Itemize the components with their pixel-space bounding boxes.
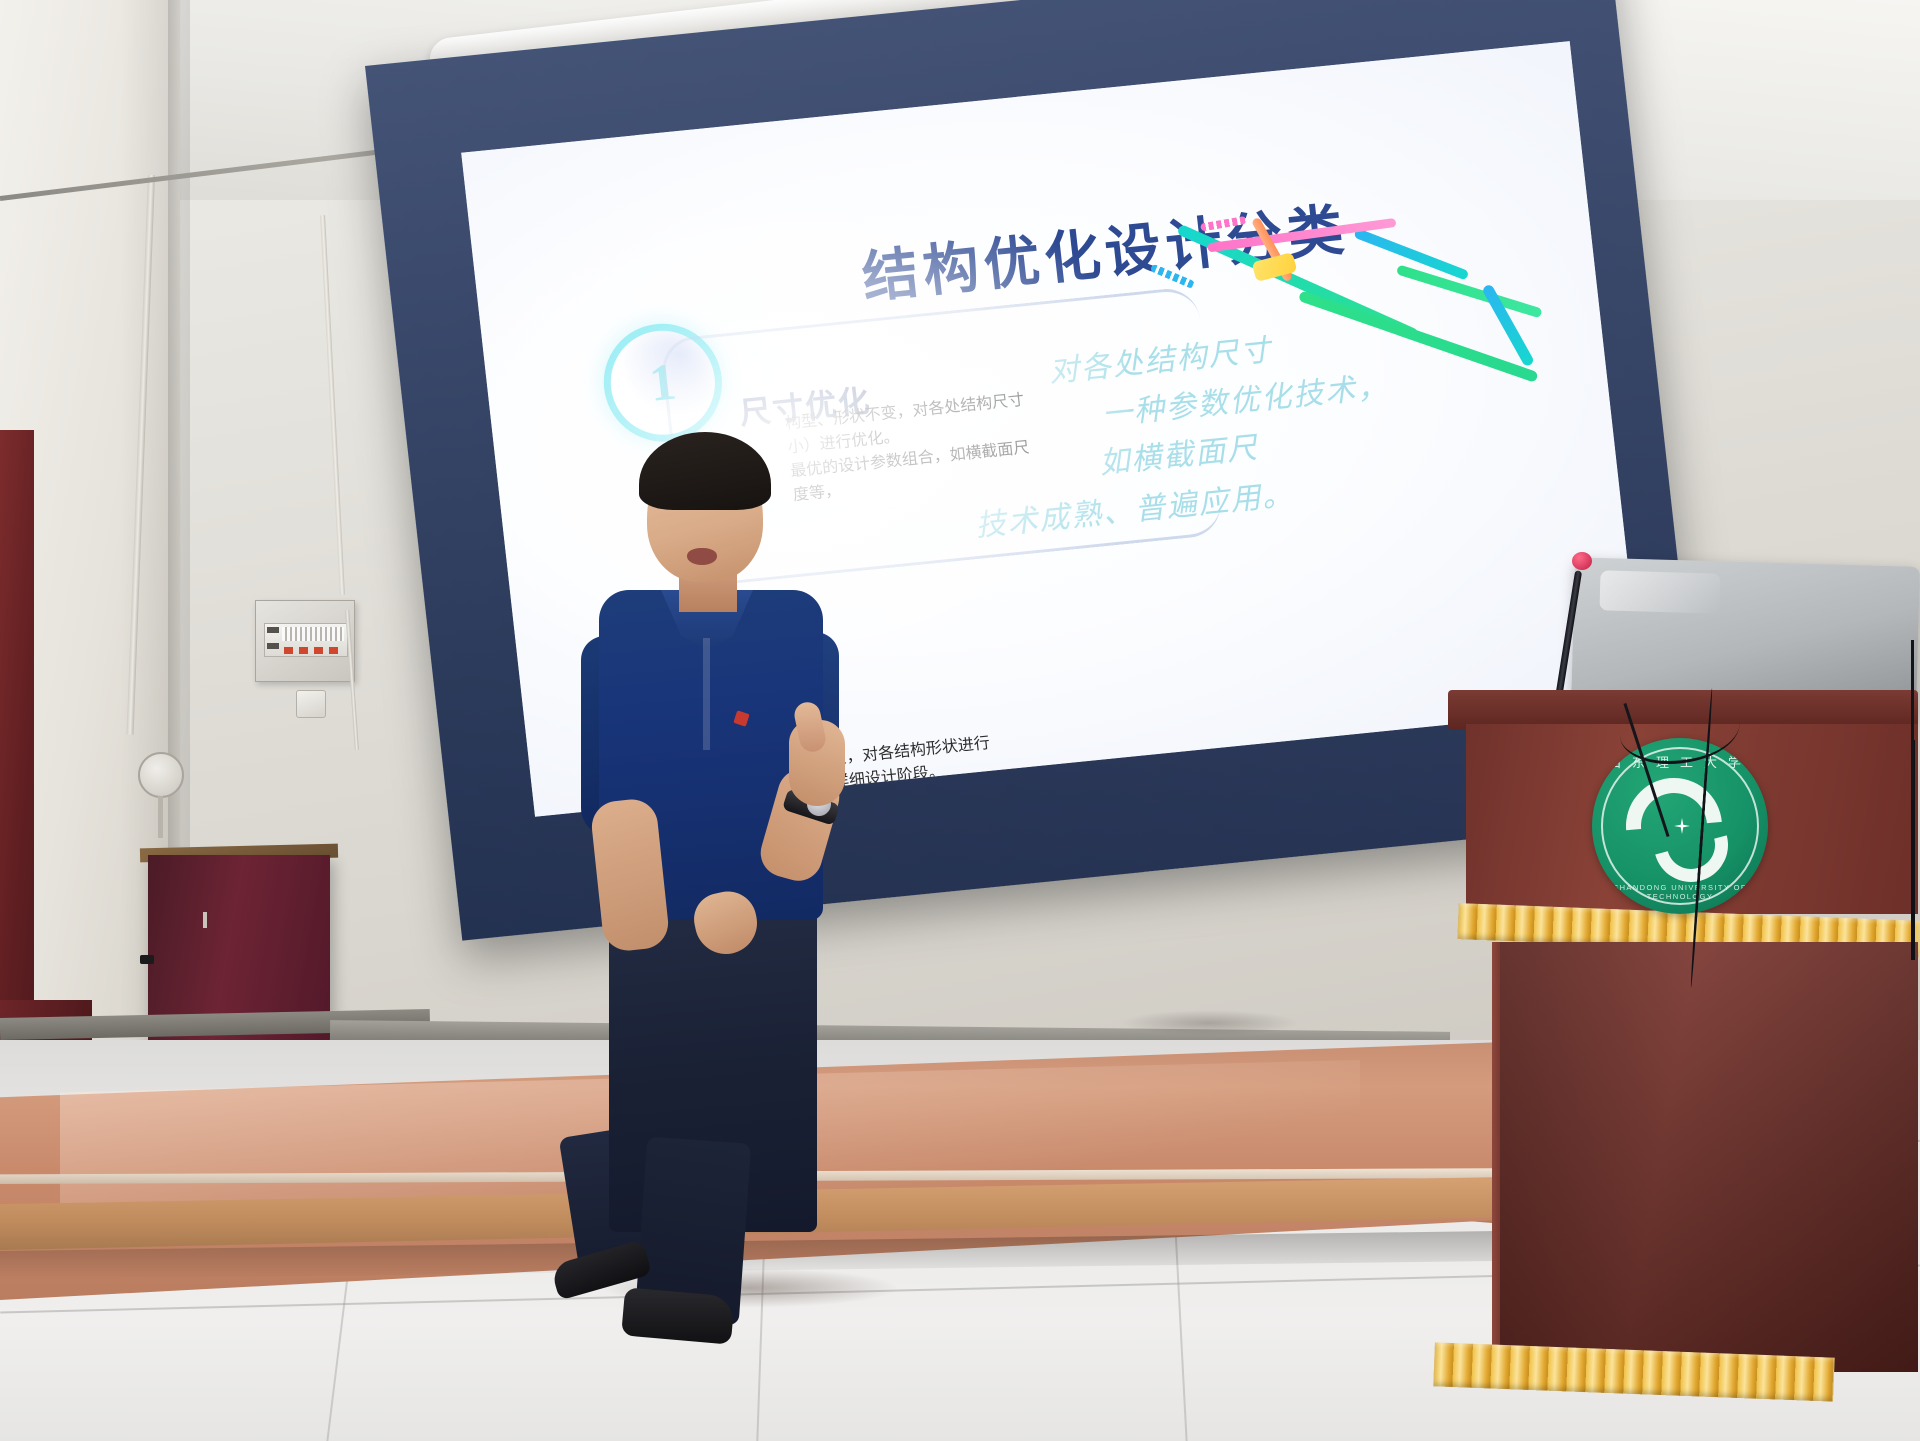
panel-warning-labels	[284, 647, 340, 654]
cabinet-lock-icon	[140, 955, 154, 964]
electrical-distribution-panel[interactable]	[255, 600, 355, 682]
circuit-breakers[interactable]	[282, 627, 344, 641]
panel-switch[interactable]	[267, 627, 279, 633]
presenter	[575, 440, 875, 1250]
presenter-shirt-placket	[703, 638, 710, 750]
university-crest-logo: 山东理工大学 SHANDONG UNIVERSITY OF TECHNOLOGY	[1592, 738, 1768, 914]
laptop-screen-glare	[1599, 570, 1720, 613]
presenter-mouth	[687, 548, 717, 565]
crest-english-name: SHANDONG UNIVERSITY OF TECHNOLOGY	[1592, 883, 1768, 901]
wall-smudge	[1120, 1010, 1300, 1036]
cabinet-handle[interactable]	[203, 912, 207, 928]
microphone-head-icon	[1572, 552, 1592, 570]
panel-switch[interactable]	[267, 643, 279, 649]
wall-fan-icon	[138, 752, 184, 798]
lectern[interactable]: 山东理工大学 SHANDONG UNIVERSITY OF TECHNOLOGY	[1444, 690, 1920, 1410]
fea-member	[1150, 264, 1196, 289]
wall-socket[interactable]	[296, 690, 326, 718]
presenter-hair	[639, 432, 771, 510]
fea-truss-figure	[1140, 211, 1576, 466]
fea-member	[1200, 216, 1247, 232]
wall-fan-stem	[158, 796, 163, 838]
lectern-front-shading	[1500, 942, 1918, 1372]
fea-member	[1396, 264, 1543, 318]
lecture-hall-scene: 结构优化设计分类 1 尺寸优化 构型、形状不变，对各处结构尺寸 小）进行优化。 …	[0, 0, 1920, 1441]
cable	[1870, 640, 1914, 800]
